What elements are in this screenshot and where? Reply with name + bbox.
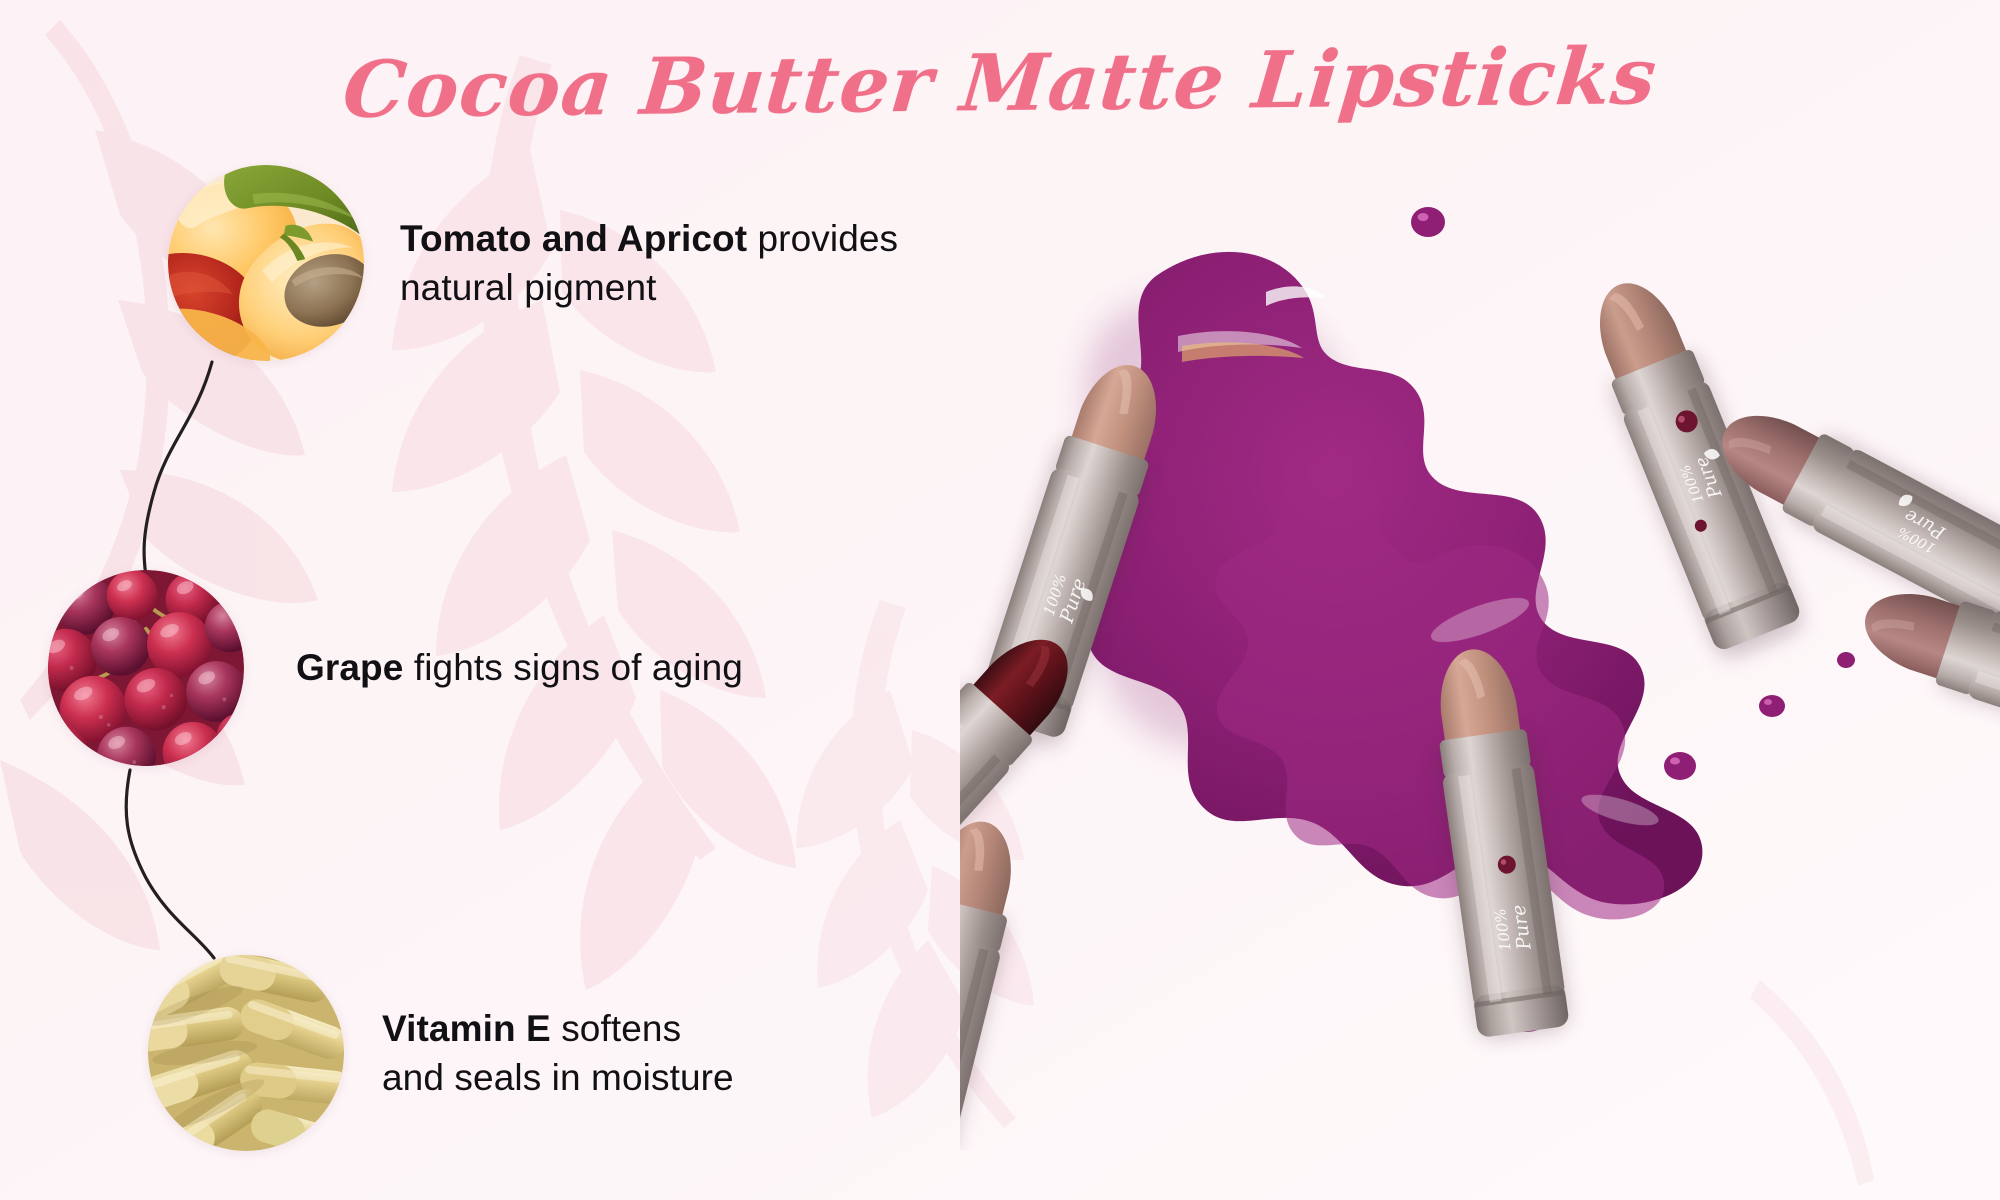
ingredient-item-vitamin-e: Vitamin E softens and seals in moisture: [148, 955, 734, 1151]
ingredient-name-grape: Grape: [296, 647, 403, 688]
ingredient-text-vitamin-e: Vitamin E softens and seals in moisture: [382, 1004, 734, 1102]
ingredient-text-tomato-apricot: Tomato and Apricot provides natural pigm…: [400, 214, 898, 312]
infographic-canvas: Cocoa Butter Matte Lipsticks: [0, 0, 2000, 1200]
ingredient-name-vitamin-e: Vitamin E: [382, 1008, 551, 1049]
ingredient-desc-grape: fights signs of aging: [403, 647, 743, 688]
lipsticks-on-purple-splash-photo: 100% Pure 100%: [960, 150, 2000, 1150]
ingredient-item-grape: Grape fights signs of aging: [48, 570, 743, 766]
ingredient-list: Tomato and Apricot provides natural pigm…: [0, 0, 1000, 1200]
apricot-and-tomato-photo: [168, 165, 364, 361]
ingredient-item-tomato-apricot: Tomato and Apricot provides natural pigm…: [168, 165, 898, 361]
red-grapes-photo: [48, 570, 244, 766]
ingredient-text-grape: Grape fights signs of aging: [296, 643, 743, 692]
ingredient-name-tomato-apricot: Tomato and Apricot: [400, 218, 747, 259]
vitamin-e-capsules-photo: [148, 955, 344, 1151]
